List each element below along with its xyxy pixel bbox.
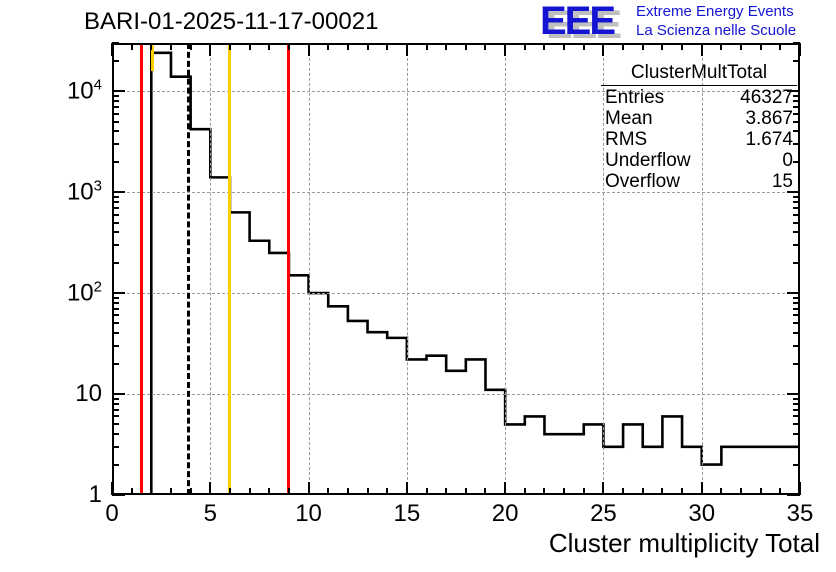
y-tick-left bbox=[112, 464, 119, 466]
y-tick-left bbox=[112, 433, 119, 435]
x-tick-bottom bbox=[327, 488, 329, 495]
x-tick-top bbox=[426, 43, 428, 50]
x-tick-top bbox=[308, 43, 310, 56]
stats-box: ClusterMultTotal Entries46327Mean3.867RM… bbox=[601, 62, 797, 192]
y-tick-right bbox=[793, 332, 800, 334]
eee-logo-text: Extreme Energy Events La Scienza nelle S… bbox=[636, 2, 796, 40]
stats-row-value: 3.867 bbox=[745, 108, 793, 129]
y-tick-left bbox=[112, 90, 125, 92]
x-tick-bottom bbox=[484, 488, 486, 495]
x-tick-bottom bbox=[229, 488, 231, 495]
eee-logo-mark: EEE EEE bbox=[540, 4, 628, 38]
x-tick-top bbox=[131, 43, 133, 50]
y-tick-left bbox=[112, 130, 119, 132]
x-tick-top bbox=[799, 43, 801, 56]
y-tick-right bbox=[787, 292, 800, 294]
y-tick-right bbox=[793, 423, 800, 425]
x-tick-bottom bbox=[249, 488, 251, 495]
x-tick-label: 30 bbox=[688, 500, 715, 528]
y-tick-right bbox=[787, 494, 800, 496]
x-tick-bottom bbox=[465, 488, 467, 495]
x-tick-bottom bbox=[583, 488, 585, 495]
y-tick-left bbox=[112, 222, 119, 224]
x-tick-label: 20 bbox=[492, 500, 519, 528]
stats-row-key: Overflow bbox=[605, 171, 680, 192]
y-tick-left bbox=[112, 292, 125, 294]
eee-logo: EEE EEE Extreme Energy Events La Scienza… bbox=[540, 2, 832, 42]
x-tick-top bbox=[268, 43, 270, 50]
y-tick-label: 102 bbox=[40, 279, 102, 308]
x-tick-top bbox=[209, 43, 211, 56]
x-tick-bottom bbox=[170, 488, 172, 495]
y-tick-left bbox=[112, 322, 119, 324]
y-tick-right bbox=[793, 398, 800, 400]
y-tick-left bbox=[112, 302, 119, 304]
x-tick-bottom bbox=[622, 488, 624, 495]
x-tick-top bbox=[622, 43, 624, 50]
x-tick-top bbox=[170, 43, 172, 50]
y-tick-label: 1 bbox=[40, 481, 102, 509]
y-tick-right bbox=[793, 409, 800, 411]
x-tick-bottom bbox=[701, 482, 703, 495]
x-tick-top bbox=[701, 43, 703, 56]
x-tick-bottom bbox=[760, 488, 762, 495]
y-tick-left bbox=[112, 423, 119, 425]
x-tick-label: 10 bbox=[295, 500, 322, 528]
stats-row: Entries46327 bbox=[601, 87, 797, 108]
y-tick-right bbox=[793, 403, 800, 405]
y-tick-label: 103 bbox=[40, 178, 102, 207]
y-tick-right bbox=[787, 393, 800, 395]
stats-row: Mean3.867 bbox=[601, 108, 797, 129]
x-tick-bottom bbox=[386, 488, 388, 495]
x-tick-top bbox=[681, 43, 683, 50]
y-tick-left bbox=[112, 363, 119, 365]
y-tick-left bbox=[112, 244, 119, 246]
y-tick-left bbox=[112, 95, 119, 97]
y-tick-left bbox=[112, 297, 119, 299]
x-tick-top bbox=[524, 43, 526, 50]
y-tick-right bbox=[793, 222, 800, 224]
x-tick-top bbox=[661, 43, 663, 50]
y-tick-left bbox=[112, 393, 125, 395]
y-tick-left bbox=[112, 191, 125, 193]
stats-rows: Entries46327Mean3.867RMS1.674Underflow0O… bbox=[601, 87, 797, 192]
y-tick-right bbox=[793, 302, 800, 304]
y-tick-left bbox=[112, 345, 119, 347]
y-tick-left bbox=[112, 332, 119, 334]
y-tick-left bbox=[112, 161, 119, 163]
x-tick-bottom bbox=[268, 488, 270, 495]
x-tick-bottom bbox=[543, 488, 545, 495]
page-title: BARI-01-2025-11-17-00021 bbox=[84, 8, 378, 36]
y-tick-right bbox=[793, 322, 800, 324]
eee-logo-line2: La Scienza nelle Scuole bbox=[636, 21, 796, 40]
y-tick-left bbox=[112, 60, 119, 62]
y-tick-left bbox=[112, 121, 119, 123]
x-tick-top bbox=[602, 43, 604, 56]
y-tick-left bbox=[112, 231, 119, 233]
y-tick-left bbox=[112, 415, 119, 417]
x-tick-bottom bbox=[720, 488, 722, 495]
x-tick-top bbox=[563, 43, 565, 50]
x-tick-top bbox=[504, 43, 506, 56]
x-tick-bottom bbox=[131, 488, 133, 495]
y-tick-left bbox=[112, 207, 119, 209]
x-tick-bottom bbox=[661, 488, 663, 495]
stats-row-key: Underflow bbox=[605, 150, 691, 171]
y-tick-left bbox=[112, 409, 119, 411]
x-tick-top bbox=[720, 43, 722, 50]
y-tick-right bbox=[793, 308, 800, 310]
stats-row-value: 1.674 bbox=[745, 129, 793, 150]
y-tick-right bbox=[793, 214, 800, 216]
y-tick-left bbox=[112, 106, 119, 108]
y-tick-right bbox=[793, 446, 800, 448]
stats-row-key: RMS bbox=[605, 129, 647, 150]
x-tick-label: 0 bbox=[105, 500, 118, 528]
x-tick-bottom bbox=[524, 488, 526, 495]
x-tick-bottom bbox=[406, 482, 408, 495]
x-tick-bottom bbox=[347, 488, 349, 495]
x-tick-top bbox=[367, 43, 369, 50]
x-tick-label: 5 bbox=[204, 500, 217, 528]
x-tick-bottom bbox=[426, 488, 428, 495]
x-tick-bottom bbox=[563, 488, 565, 495]
y-tick-left bbox=[112, 143, 119, 145]
x-tick-top bbox=[386, 43, 388, 50]
x-tick-bottom bbox=[308, 482, 310, 495]
x-tick-top bbox=[249, 43, 251, 50]
stats-row: Underflow0 bbox=[601, 150, 797, 171]
root-canvas: BARI-01-2025-11-17-00021 EEE EEE Extreme… bbox=[0, 0, 836, 572]
x-tick-bottom bbox=[602, 482, 604, 495]
y-tick-right bbox=[793, 42, 800, 44]
x-tick-top bbox=[150, 43, 152, 50]
y-tick-right bbox=[793, 201, 800, 203]
x-tick-label: 15 bbox=[393, 500, 420, 528]
y-tick-left bbox=[112, 308, 119, 310]
y-tick-left bbox=[112, 314, 119, 316]
y-tick-right bbox=[793, 464, 800, 466]
x-tick-bottom bbox=[642, 488, 644, 495]
x-tick-top bbox=[583, 43, 585, 50]
x-tick-top bbox=[111, 43, 113, 56]
y-tick-right bbox=[793, 244, 800, 246]
y-tick-right bbox=[793, 231, 800, 233]
x-tick-bottom bbox=[779, 488, 781, 495]
x-tick-top bbox=[190, 43, 192, 50]
y-tick-right bbox=[793, 262, 800, 264]
y-tick-right bbox=[793, 363, 800, 365]
stats-row-key: Mean bbox=[605, 108, 653, 129]
stats-row-value: 0 bbox=[782, 150, 793, 171]
x-tick-top bbox=[229, 43, 231, 50]
y-tick-left bbox=[112, 398, 119, 400]
y-tick-label: 10 bbox=[40, 380, 102, 408]
y-tick-right bbox=[793, 207, 800, 209]
y-tick-right bbox=[793, 196, 800, 198]
x-tick-top bbox=[406, 43, 408, 56]
stats-row: Overflow15 bbox=[601, 171, 797, 192]
stats-row-value: 15 bbox=[772, 171, 793, 192]
x-tick-bottom bbox=[288, 488, 290, 495]
y-tick-left bbox=[112, 446, 119, 448]
x-tick-top bbox=[327, 43, 329, 50]
x-tick-top bbox=[347, 43, 349, 50]
x-tick-bottom bbox=[681, 488, 683, 495]
y-tick-left bbox=[112, 196, 119, 198]
x-axis-title: Cluster multiplicity Total bbox=[549, 528, 820, 559]
y-tick-left bbox=[112, 201, 119, 203]
x-tick-bottom bbox=[445, 488, 447, 495]
y-tick-right bbox=[793, 433, 800, 435]
y-tick-left bbox=[112, 100, 119, 102]
x-tick-label: 35 bbox=[787, 500, 814, 528]
x-tick-top bbox=[740, 43, 742, 50]
x-tick-top bbox=[760, 43, 762, 50]
y-tick-label: 104 bbox=[40, 77, 102, 106]
x-tick-top bbox=[445, 43, 447, 50]
y-tick-left bbox=[112, 262, 119, 264]
x-tick-bottom bbox=[190, 488, 192, 495]
y-tick-left bbox=[112, 113, 119, 115]
x-tick-top bbox=[484, 43, 486, 50]
x-tick-bottom bbox=[209, 482, 211, 495]
stats-row: RMS1.674 bbox=[601, 129, 797, 150]
y-tick-right bbox=[793, 345, 800, 347]
x-tick-bottom bbox=[367, 488, 369, 495]
x-tick-bottom bbox=[150, 488, 152, 495]
x-tick-label: 25 bbox=[590, 500, 617, 528]
eee-logo-letters: EEE bbox=[540, 4, 614, 38]
x-tick-top bbox=[543, 43, 545, 50]
x-tick-top bbox=[288, 43, 290, 50]
y-tick-right bbox=[793, 297, 800, 299]
stats-row-value: 46327 bbox=[740, 87, 793, 108]
x-tick-top bbox=[465, 43, 467, 50]
x-tick-top bbox=[642, 43, 644, 50]
y-tick-left bbox=[112, 494, 125, 496]
y-tick-left bbox=[112, 403, 119, 405]
stats-header: ClusterMultTotal bbox=[601, 62, 797, 86]
x-tick-bottom bbox=[740, 488, 742, 495]
eee-logo-line1: Extreme Energy Events bbox=[636, 2, 796, 21]
y-tick-left bbox=[112, 42, 119, 44]
y-tick-right bbox=[793, 314, 800, 316]
y-tick-left bbox=[112, 214, 119, 216]
stats-row-key: Entries bbox=[605, 87, 664, 108]
x-tick-top bbox=[779, 43, 781, 50]
y-tick-right bbox=[793, 415, 800, 417]
x-tick-bottom bbox=[504, 482, 506, 495]
